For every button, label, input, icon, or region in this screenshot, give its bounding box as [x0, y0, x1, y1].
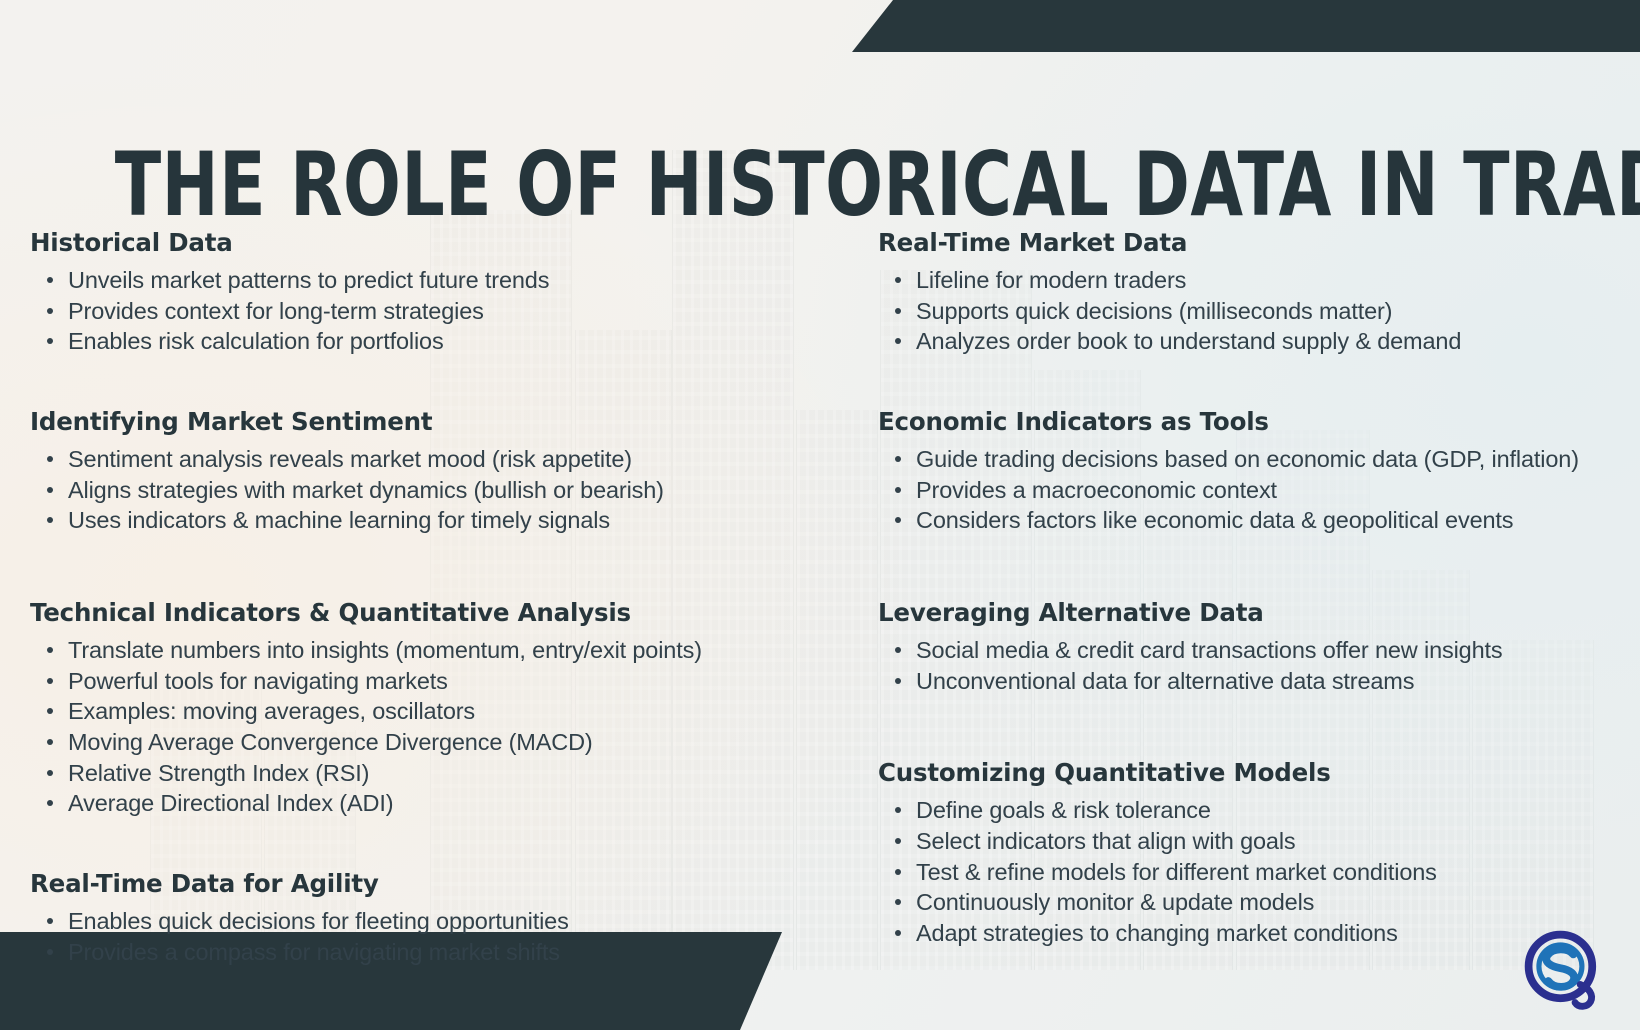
bullet-dot-icon: [895, 930, 901, 936]
list-item: Moving Average Convergence Divergence (M…: [68, 729, 800, 756]
bullet-dot-icon: [895, 487, 901, 493]
list-item: Unveils market patterns to predict futur…: [68, 267, 800, 294]
list-item-text: Powerful tools for navigating markets: [68, 668, 448, 694]
bullet-dot-icon: [895, 456, 901, 462]
list-item: Adapt strategies to changing market cond…: [916, 920, 1610, 947]
list-item: Test & refine models for different marke…: [916, 859, 1610, 886]
list-item: Relative Strength Index (RSI): [68, 760, 800, 787]
list-item: Provides a compass for navigating market…: [68, 939, 800, 966]
bullet-dot-icon: [47, 647, 53, 653]
list-item: Continuously monitor & update models: [916, 889, 1610, 916]
bullet-dot-icon: [47, 949, 53, 955]
left-column: Historical Data Unveils market patterns …: [30, 228, 800, 983]
list-item-text: Define goals & risk tolerance: [916, 797, 1211, 823]
list-item-text: Average Directional Index (ADI): [68, 790, 393, 816]
list-item-text: Continuously monitor & update models: [916, 889, 1314, 915]
bullet-dot-icon: [895, 277, 901, 283]
list-item: Lifeline for modern traders: [916, 267, 1610, 294]
bullet-list: Define goals & risk tolerance Select ind…: [878, 797, 1610, 946]
bullet-dot-icon: [47, 517, 53, 523]
list-item: Unconventional data for alternative data…: [916, 668, 1610, 695]
list-item-text: Unveils market patterns to predict futur…: [68, 267, 549, 293]
bullet-dot-icon: [47, 800, 53, 806]
section-heading: Real-Time Market Data: [878, 228, 1610, 257]
list-item-text: Translate numbers into insights (momentu…: [68, 637, 702, 663]
list-item: Powerful tools for navigating markets: [68, 668, 800, 695]
list-item: Provides a macroeconomic context: [916, 477, 1610, 504]
section-heading: Identifying Market Sentiment: [30, 407, 800, 436]
list-item-text: Supports quick decisions (milliseconds m…: [916, 298, 1392, 324]
bullet-dot-icon: [895, 899, 901, 905]
section-heading: Technical Indicators & Quantitative Anal…: [30, 598, 800, 627]
list-item: Supports quick decisions (milliseconds m…: [916, 298, 1610, 325]
section-identifying-market-sentiment: Identifying Market Sentiment Sentiment a…: [30, 407, 800, 534]
list-item: Average Directional Index (ADI): [68, 790, 800, 817]
bullet-list: Translate numbers into insights (momentu…: [30, 637, 800, 817]
list-item-text: Enables risk calculation for portfolios: [68, 328, 444, 354]
bullet-dot-icon: [47, 308, 53, 314]
list-item-text: Uses indicators & machine learning for t…: [68, 507, 610, 533]
bullet-dot-icon: [47, 918, 53, 924]
list-item: Analyzes order book to understand supply…: [916, 328, 1610, 355]
list-item: Enables risk calculation for portfolios: [68, 328, 800, 355]
bullet-dot-icon: [47, 277, 53, 283]
list-item: Social media & credit card transactions …: [916, 637, 1610, 664]
list-item-text: Provides context for long-term strategie…: [68, 298, 484, 324]
bullet-dot-icon: [895, 338, 901, 344]
list-item-text: Social media & credit card transactions …: [916, 637, 1503, 663]
bullet-dot-icon: [47, 678, 53, 684]
bullet-dot-icon: [895, 308, 901, 314]
page-title: THE ROLE OF HISTORICAL DATA IN TRADING: [115, 141, 1525, 229]
bullet-list: Lifeline for modern traders Supports qui…: [878, 267, 1610, 355]
list-item-text: Sentiment analysis reveals market mood (…: [68, 446, 632, 472]
section-technical-indicators-quantitative-analysis: Technical Indicators & Quantitative Anal…: [30, 598, 800, 817]
section-heading: Leveraging Alternative Data: [878, 598, 1610, 627]
brand-logo: [1520, 926, 1606, 1012]
bullet-list: Sentiment analysis reveals market mood (…: [30, 446, 800, 534]
list-item: Translate numbers into insights (momentu…: [68, 637, 800, 664]
list-item-text: Unconventional data for alternative data…: [916, 668, 1414, 694]
list-item-text: Considers factors like economic data & g…: [916, 507, 1513, 533]
section-heading: Customizing Quantitative Models: [878, 758, 1610, 787]
list-item-text: Moving Average Convergence Divergence (M…: [68, 729, 593, 755]
bullet-dot-icon: [895, 517, 901, 523]
bullet-dot-icon: [895, 807, 901, 813]
list-item: Uses indicators & machine learning for t…: [68, 507, 800, 534]
list-item-text: Lifeline for modern traders: [916, 267, 1186, 293]
list-item-text: Adapt strategies to changing market cond…: [916, 920, 1398, 946]
list-item: Select indicators that align with goals: [916, 828, 1610, 855]
list-item-text: Guide trading decisions based on economi…: [916, 446, 1579, 472]
list-item-text: Analyzes order book to understand supply…: [916, 328, 1461, 354]
content-columns: Historical Data Unveils market patterns …: [0, 228, 1640, 983]
bullet-dot-icon: [47, 708, 53, 714]
bullet-dot-icon: [895, 678, 901, 684]
bullet-dot-icon: [895, 838, 901, 844]
list-item: Examples: moving averages, oscillators: [68, 698, 800, 725]
list-item: Define goals & risk tolerance: [916, 797, 1610, 824]
section-customizing-quantitative-models: Customizing Quantitative Models Define g…: [878, 758, 1610, 946]
list-item-text: Relative Strength Index (RSI): [68, 760, 369, 786]
top-right-corner-accent: [830, 0, 1640, 52]
section-leveraging-alternative-data: Leveraging Alternative Data Social media…: [878, 598, 1610, 694]
right-column: Real-Time Market Data Lifeline for moder…: [840, 228, 1610, 983]
list-item: Aligns strategies with market dynamics (…: [68, 477, 800, 504]
section-heading: Historical Data: [30, 228, 800, 257]
list-item: Considers factors like economic data & g…: [916, 507, 1610, 534]
section-heading: Economic Indicators as Tools: [878, 407, 1610, 436]
bullet-dot-icon: [895, 869, 901, 875]
list-item: Guide trading decisions based on economi…: [916, 446, 1610, 473]
list-item-text: Select indicators that align with goals: [916, 828, 1296, 854]
list-item: Sentiment analysis reveals market mood (…: [68, 446, 800, 473]
bullet-dot-icon: [47, 487, 53, 493]
bullet-list: Enables quick decisions for fleeting opp…: [30, 908, 800, 965]
section-real-time-data-for-agility: Real-Time Data for Agility Enables quick…: [30, 869, 800, 965]
list-item-text: Provides a compass for navigating market…: [68, 939, 560, 965]
section-historical-data: Historical Data Unveils market patterns …: [30, 228, 800, 355]
list-item: Provides context for long-term strategie…: [68, 298, 800, 325]
list-item-text: Test & refine models for different marke…: [916, 859, 1437, 885]
bullet-list: Unveils market patterns to predict futur…: [30, 267, 800, 355]
infographic-poster: THE ROLE OF HISTORICAL DATA IN TRADING H…: [0, 0, 1640, 1030]
bullet-list: Social media & credit card transactions …: [878, 637, 1610, 694]
list-item-text: Aligns strategies with market dynamics (…: [68, 477, 664, 503]
circular-s-monogram-icon: [1520, 926, 1606, 1012]
bullet-dot-icon: [895, 647, 901, 653]
list-item-text: Enables quick decisions for fleeting opp…: [68, 908, 569, 934]
list-item-text: Examples: moving averages, oscillators: [68, 698, 475, 724]
section-economic-indicators-as-tools: Economic Indicators as Tools Guide tradi…: [878, 407, 1610, 534]
bullet-list: Guide trading decisions based on economi…: [878, 446, 1610, 534]
bullet-dot-icon: [47, 338, 53, 344]
section-real-time-market-data: Real-Time Market Data Lifeline for moder…: [878, 228, 1610, 355]
list-item-text: Provides a macroeconomic context: [916, 477, 1277, 503]
section-heading: Real-Time Data for Agility: [30, 869, 800, 898]
bullet-dot-icon: [47, 456, 53, 462]
list-item: Enables quick decisions for fleeting opp…: [68, 908, 800, 935]
bullet-dot-icon: [47, 770, 53, 776]
bullet-dot-icon: [47, 739, 53, 745]
